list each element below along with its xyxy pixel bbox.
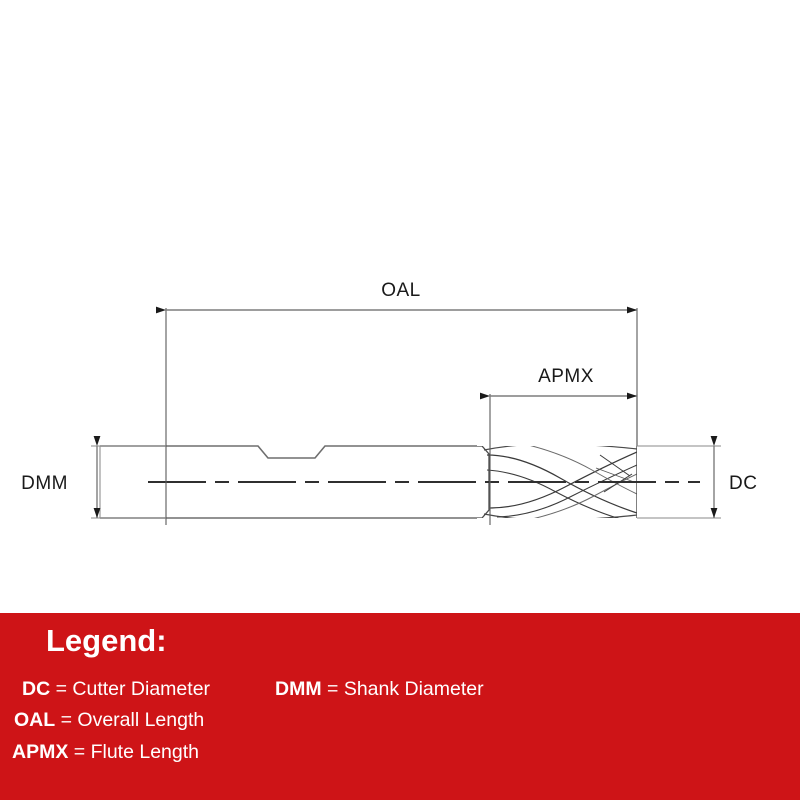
legend-code-dmm: DMM <box>275 678 322 700</box>
oal-label: OAL <box>381 280 421 301</box>
dimension-dmm: DMM <box>21 446 166 518</box>
legend-code-oal: OAL <box>14 709 55 731</box>
end-mill-drawing-svg: OAL APMX DMM DC <box>0 0 800 613</box>
legend-description-dmm: Shank Diameter <box>344 678 484 700</box>
legend-description-apmx: Flute Length <box>91 741 199 763</box>
legend-entry-dmm: DMM = Shank Diameter <box>275 678 484 701</box>
legend-entry-dc: DC = Cutter Diameter <box>22 678 210 701</box>
flute-envelope-top <box>484 444 637 450</box>
apmx-label: APMX <box>538 366 594 387</box>
legend-code-dc: DC <box>22 678 50 700</box>
flute-helix-1 <box>487 455 637 513</box>
dimension-apmx: APMX <box>490 366 637 525</box>
legend-separator-dmm: = <box>322 678 344 700</box>
flute-gash-1 <box>600 455 630 476</box>
legend-banner: Legend: DC = Cutter Diameter DMM = Shank… <box>0 613 800 800</box>
page-root: OAL APMX DMM DC <box>0 0 800 800</box>
legend-code-apmx: APMX <box>12 741 68 763</box>
shank-top-profile <box>100 446 477 458</box>
legend-description-dc: Cutter Diameter <box>72 678 210 700</box>
legend-entry-oal: OAL = Overall Length <box>14 709 204 732</box>
legend-title: Legend: <box>46 623 167 659</box>
legend-description-oal: Overall Length <box>77 709 204 731</box>
dc-label: DC <box>729 473 757 494</box>
legend-entry-apmx: APMX = Flute Length <box>12 741 199 764</box>
legend-separator-oal: = <box>55 709 77 731</box>
flute-helix-4 <box>497 465 637 517</box>
dmm-label: DMM <box>21 473 68 494</box>
legend-separator-dc: = <box>50 678 72 700</box>
technical-drawing: OAL APMX DMM DC <box>0 0 800 613</box>
flute-helix-2 <box>487 470 628 521</box>
legend-separator-apmx: = <box>68 741 90 763</box>
dimension-oal: OAL <box>166 280 637 525</box>
